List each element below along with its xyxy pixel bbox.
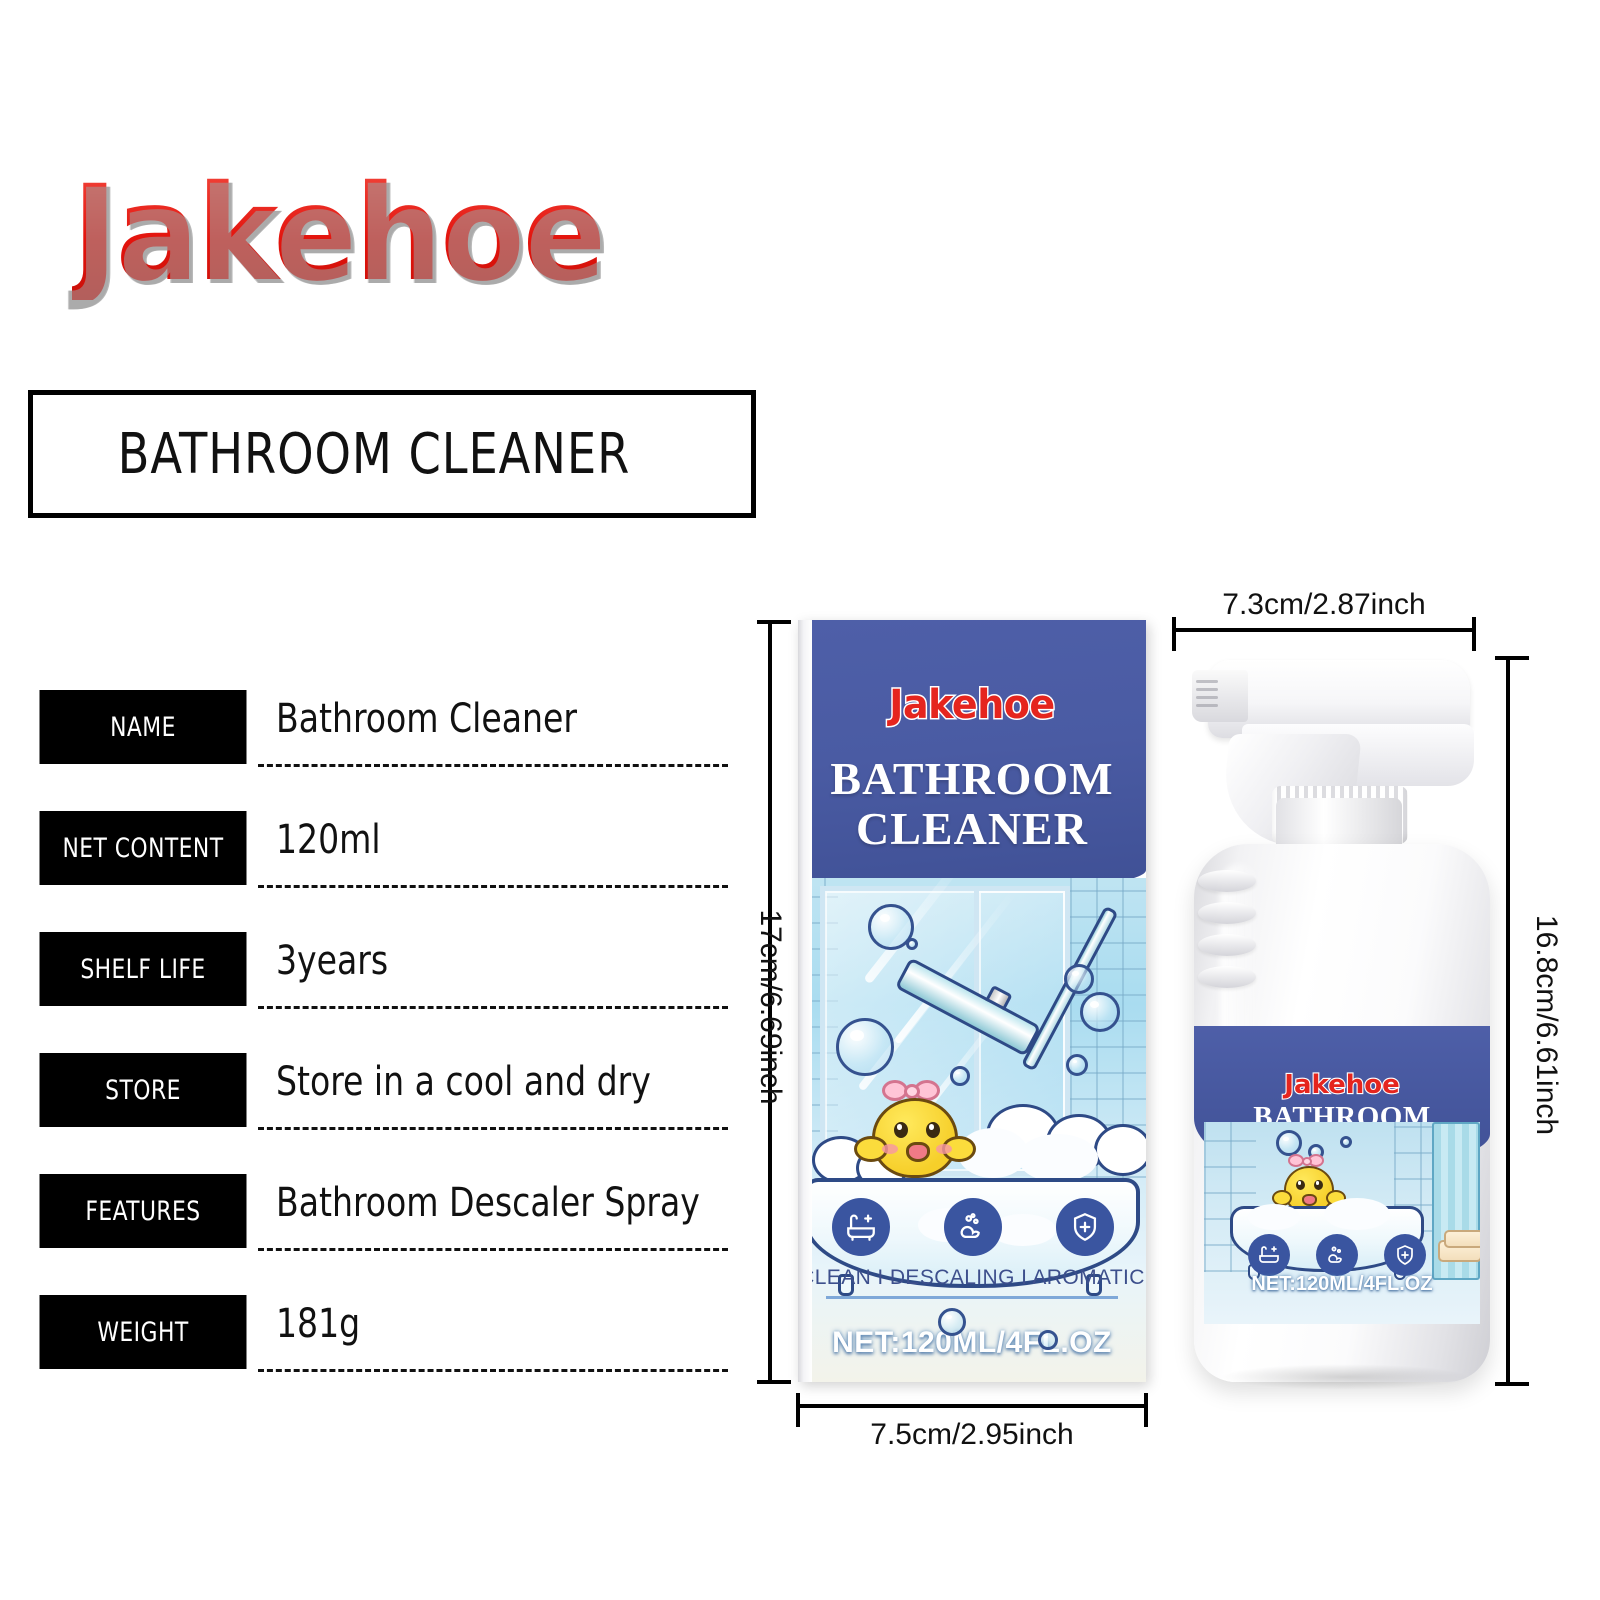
foam-blob — [1248, 1204, 1300, 1230]
bathtub-shower-icon — [832, 1198, 890, 1256]
page-title: BATHROOM CLEANER — [33, 422, 630, 487]
spec-value-name: Bathroom Cleaner — [276, 696, 577, 742]
bottle-grip-ridge — [1198, 902, 1256, 924]
soap-bubble — [1064, 964, 1094, 994]
carton-tagline: CLEAN I DESCALING I AROMATIC — [798, 1266, 1146, 1290]
duck-cheek-left — [882, 1144, 898, 1154]
label-artwork: NET:120ML/4FL.OZ — [1204, 1122, 1480, 1324]
duck-cheek-right — [936, 1144, 952, 1154]
spec-value-features: Bathroom Descaler Spray — [276, 1180, 700, 1226]
carton-title-line1: BATHROOM — [830, 753, 1113, 804]
table-row: NAME Bathroom Cleaner — [28, 690, 728, 811]
box-width-dimension-line — [798, 1404, 1146, 1408]
label-net-content: NET:120ML/4FL.OZ — [1204, 1273, 1480, 1296]
carton-title-line2: CLEANER — [856, 803, 1088, 854]
duck-eye-left — [894, 1122, 908, 1138]
spec-key-shelf-life: SHELF LIFE — [40, 932, 247, 1006]
soap-bar — [1444, 1230, 1480, 1248]
soap-bubble — [1066, 1054, 1088, 1076]
soap-bubble — [1038, 1330, 1058, 1350]
bottle-grip-ridge — [1198, 966, 1256, 988]
soap-bubble — [1080, 992, 1120, 1032]
spec-key-features: FEATURES — [40, 1174, 247, 1248]
box-width-dimension-label: 7.5cm/2.95inch — [798, 1418, 1146, 1452]
bottle-height-dimension-line — [1506, 658, 1510, 1384]
box-height-dimension-label: 17cm/6.69inch — [753, 892, 787, 1122]
spec-divider — [258, 1127, 728, 1130]
table-row: SHELF LIFE 3years — [28, 932, 728, 1053]
table-row: FEATURES Bathroom Descaler Spray — [28, 1174, 728, 1295]
spec-table: NAME Bathroom Cleaner NET CONTENT 120ml … — [28, 690, 728, 1416]
product-carton-image: Jakehoe BATHROOM CLEANER — [798, 620, 1146, 1382]
foam-bubbles-icon — [1316, 1234, 1358, 1276]
carton-artwork: CLEAN I DESCALING I AROMATIC NET:120ML/4… — [798, 878, 1146, 1382]
foam-blob — [1324, 1198, 1390, 1230]
duck-eye-right — [926, 1122, 940, 1138]
duck-eye-left — [1296, 1180, 1305, 1190]
duck-beak — [1302, 1194, 1317, 1206]
bottle-height-dimension-label: 16.8cm/6.61inch — [1529, 895, 1563, 1155]
shield-plus-icon — [1056, 1198, 1114, 1256]
label-brand-logo: Jakehoe — [1194, 1070, 1490, 1100]
page-title-box: BATHROOM CLEANER — [28, 390, 756, 518]
carton-header-panel: Jakehoe BATHROOM CLEANER — [798, 620, 1146, 892]
soap-bubble — [1340, 1136, 1352, 1148]
foam-bubbles-icon — [944, 1198, 1002, 1256]
bathtub-shower-icon — [1248, 1234, 1290, 1276]
table-row: STORE Store in a cool and dry — [28, 1053, 728, 1174]
spray-bottle-image: Jakehoe BATHROOM CLEANER — [1180, 648, 1504, 1382]
table-row: NET CONTENT 120ml — [28, 811, 728, 932]
spec-divider — [258, 764, 728, 767]
carton-brand-logo: Jakehoe — [807, 682, 1138, 728]
shield-plus-icon — [1384, 1234, 1426, 1276]
duck-eye-right — [1314, 1180, 1323, 1190]
soap-bubble — [938, 1308, 966, 1336]
spec-divider — [258, 1248, 728, 1251]
soap-bubble — [1276, 1130, 1302, 1156]
spec-key-weight: WEIGHT — [40, 1295, 247, 1369]
bottle-width-dimension-line — [1174, 628, 1474, 632]
spec-value-weight: 181g — [276, 1301, 360, 1347]
duck-bow-knot — [1302, 1157, 1312, 1166]
bottle-label: Jakehoe BATHROOM CLEANER — [1194, 1026, 1490, 1324]
soap-bubble — [906, 938, 918, 950]
bottle-grip-ridge — [1198, 870, 1256, 892]
foam-blob — [1018, 1134, 1098, 1182]
spray-nozzle — [1192, 670, 1248, 722]
spec-key-net-content: NET CONTENT — [40, 811, 247, 885]
carton-product-title: BATHROOM CLEANER — [798, 754, 1146, 853]
spec-value-shelf-life: 3years — [276, 938, 388, 984]
spec-divider — [258, 1369, 728, 1372]
bottle-grip-ridge — [1198, 934, 1256, 956]
soap-bubble — [836, 1018, 894, 1076]
carton-net-content: NET:120ML/4FL.OZ — [798, 1326, 1146, 1360]
brand-logo: Jakehoe — [72, 168, 604, 300]
duck-beak — [906, 1142, 930, 1162]
bottle-body: Jakehoe BATHROOM CLEANER — [1194, 844, 1490, 1382]
bottle-width-dimension-label: 7.3cm/2.87inch — [1174, 588, 1474, 622]
duck-bow-knot — [904, 1084, 920, 1099]
spec-divider — [258, 885, 728, 888]
carton-tagline-rule — [826, 1296, 1118, 1299]
spec-value-net-content: 120ml — [276, 817, 381, 863]
bottle-drop-shadow — [1220, 1364, 1470, 1390]
carton-left-edge — [798, 620, 812, 1382]
table-row: WEIGHT 181g — [28, 1295, 728, 1416]
foam-blob — [1094, 1124, 1146, 1176]
spec-divider — [258, 1006, 728, 1009]
spec-key-name: NAME — [40, 690, 247, 764]
soap-bubble — [950, 1066, 970, 1086]
spec-key-store: STORE — [40, 1053, 247, 1127]
spec-value-store: Store in a cool and dry — [276, 1059, 651, 1105]
duck-body — [872, 1098, 958, 1178]
